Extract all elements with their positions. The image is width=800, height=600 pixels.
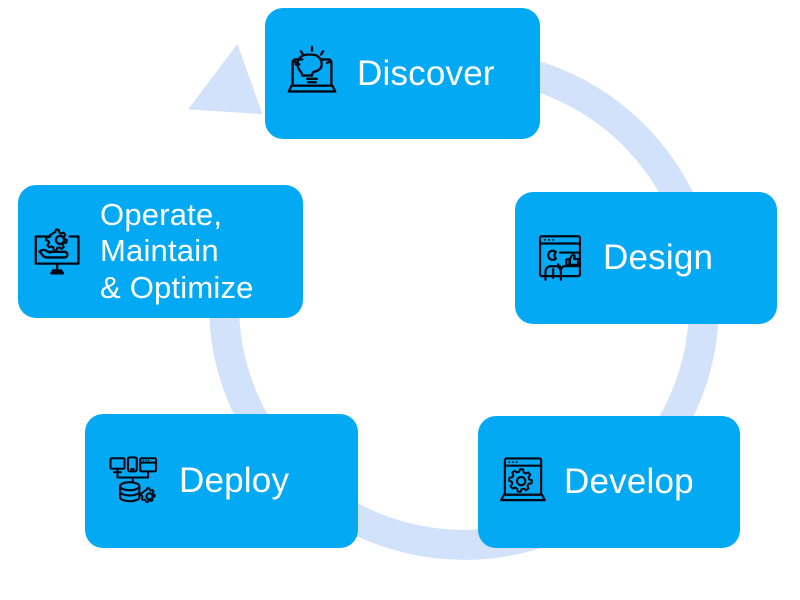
stage-card-design[interactable]: Design (515, 192, 777, 324)
stage-label-discover: Discover (357, 53, 495, 94)
stage-card-deploy[interactable]: Deploy (85, 414, 358, 548)
laptop-lightbulb-icon (281, 43, 343, 105)
cycle-arrow-head (180, 42, 262, 124)
browser-person-thumbsup-icon (531, 229, 589, 287)
stage-card-develop[interactable]: Develop (478, 416, 740, 548)
diagram-canvas: Discover Design (0, 0, 800, 600)
stage-card-discover[interactable]: Discover (265, 8, 540, 139)
devices-database-gear-icon (107, 453, 163, 509)
monitor-hand-gear-icon (30, 221, 92, 283)
stage-label-design: Design (603, 237, 713, 278)
stage-label-operate: Operate, Maintain & Optimize (100, 197, 254, 307)
stage-card-operate[interactable]: Operate, Maintain & Optimize (18, 185, 303, 318)
stage-label-develop: Develop (564, 461, 694, 502)
stage-label-deploy: Deploy (179, 460, 289, 501)
laptop-gears-icon (494, 453, 552, 511)
